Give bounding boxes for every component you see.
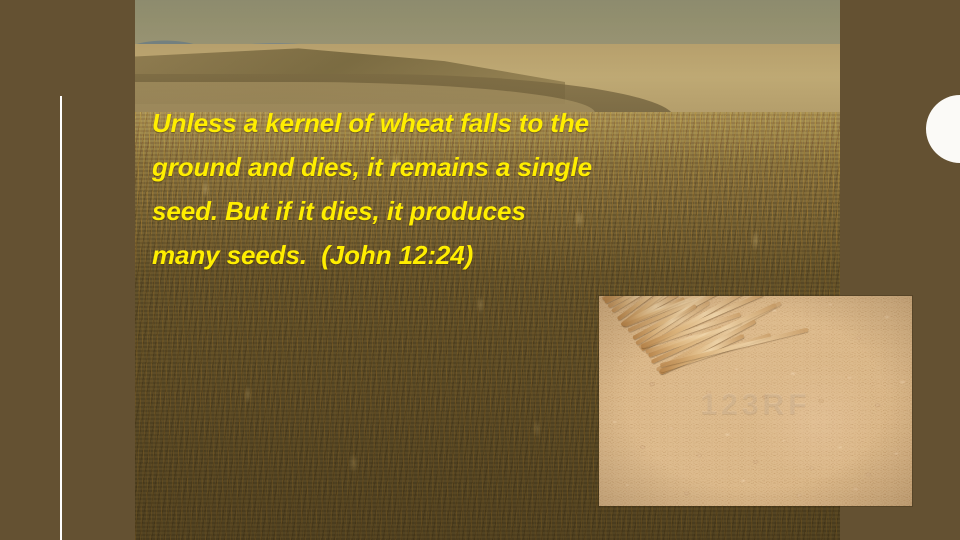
- decorative-circle: [926, 95, 960, 163]
- inset-photo-wheat-grain: 123RF: [599, 296, 912, 506]
- accent-vertical-rule: [60, 96, 62, 540]
- presentation-slide: Unless a kernel of wheat falls to the gr…: [0, 0, 960, 540]
- grain-vignette: [599, 296, 912, 506]
- quote-text: Unless a kernel of wheat falls to the gr…: [152, 101, 622, 277]
